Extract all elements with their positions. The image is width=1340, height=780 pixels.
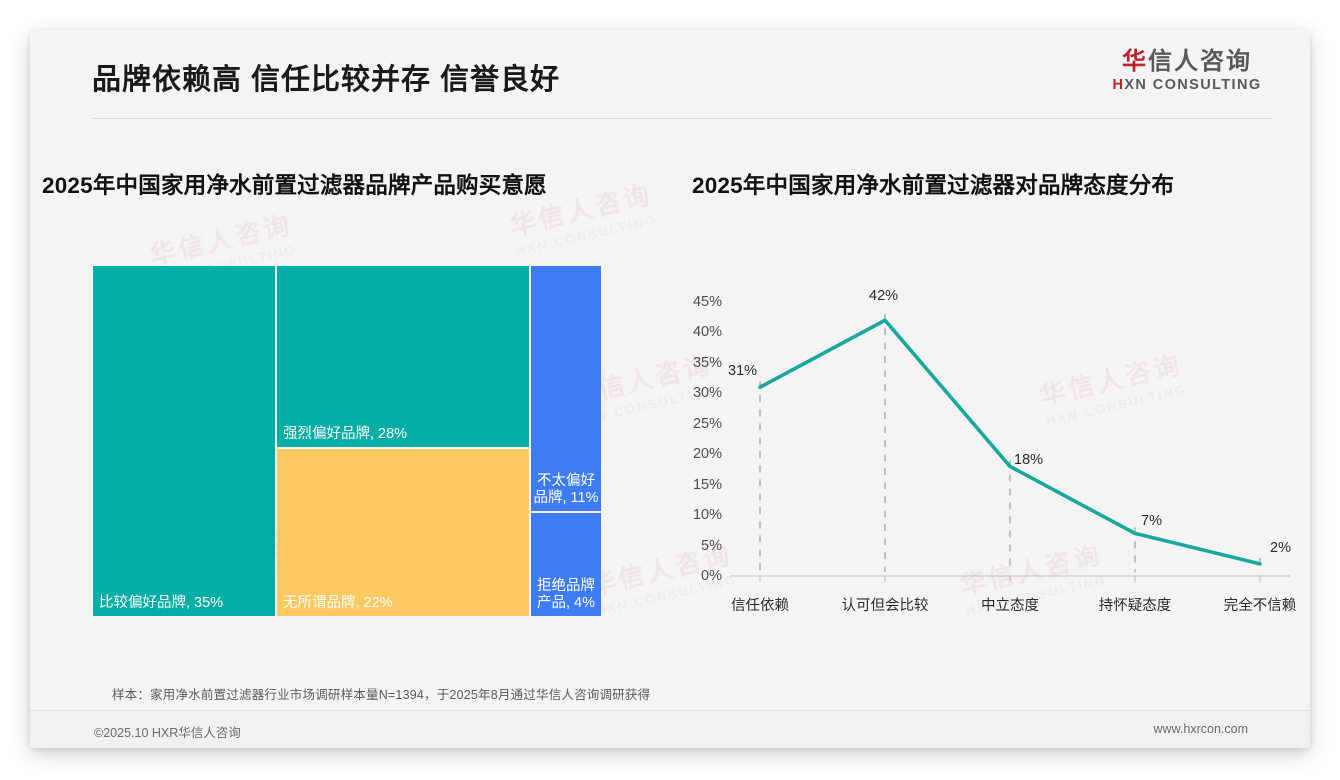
y-axis-tick-label: 35% xyxy=(674,355,722,371)
treemap-tile-label: 不太偏好品牌, 11% xyxy=(531,473,601,507)
y-axis-tick-label: 30% xyxy=(674,385,722,401)
line-chart: 45%40%35%30%25%20%15%10%5%0% 信任依赖认可但会比较中… xyxy=(670,266,1310,626)
y-axis-tick-label: 0% xyxy=(674,568,722,584)
vertical-gridlines xyxy=(760,314,1260,572)
y-axis-tick-label: 10% xyxy=(674,507,722,523)
y-axis-tick-label: 45% xyxy=(674,294,722,310)
watermark-en: HXN CONSULTING xyxy=(514,211,659,258)
treemap-tile[interactable]: 比较偏好品牌, 35% xyxy=(93,266,275,616)
copyright-text: ©2025.10 HXR华信人咨询 xyxy=(94,722,241,741)
logo-chinese-text: 华信人咨询 xyxy=(1102,49,1272,75)
treemap-tile-label: 强烈偏好品牌, 28% xyxy=(283,426,407,443)
y-axis-tick-label: 25% xyxy=(674,416,722,432)
source-footnote: 样本：家用净水前置过滤器行业市场调研样本量N=1394，于2025年8月通过华信… xyxy=(112,684,650,703)
y-axis-tick-label: 15% xyxy=(674,477,722,493)
y-axis-tick-label: 5% xyxy=(674,538,722,554)
left-chart-title: 2025年中国家用净水前置过滤器品牌产品购买意愿 xyxy=(42,168,547,200)
treemap-tile[interactable]: 强烈偏好品牌, 28% xyxy=(277,266,529,447)
x-axis-category-label: 中立态度 xyxy=(981,594,1039,615)
slide-footer: ©2025.10 HXR华信人咨询 www.hxrcon.com xyxy=(30,711,1310,748)
logo-english-text: HXN CONSULTING xyxy=(1102,77,1272,93)
line-chart-svg xyxy=(670,266,1310,626)
data-point-label: 7% xyxy=(1141,513,1162,529)
line-series[interactable] xyxy=(760,320,1260,564)
x-axis-ticks xyxy=(760,576,1260,582)
logo-en-red-char: H xyxy=(1112,77,1124,93)
treemap-chart: 比较偏好品牌, 35% 强烈偏好品牌, 28% 无所谓品牌, 22% 不太偏好品… xyxy=(93,266,638,616)
treemap-tile[interactable]: 拒绝品牌产品, 4% xyxy=(531,513,601,616)
website-text[interactable]: www.hxrcon.com xyxy=(1154,722,1248,736)
y-axis-tick-label: 40% xyxy=(674,324,722,340)
logo-cn-rest: 信人咨询 xyxy=(1148,48,1252,75)
right-chart-title: 2025年中国家用净水前置过滤器对品牌态度分布 xyxy=(692,168,1174,200)
data-point-label: 18% xyxy=(1014,452,1043,468)
x-axis-category-label: 认可但会比较 xyxy=(842,594,929,615)
x-axis-category-label: 持怀疑态度 xyxy=(1099,594,1172,615)
page-title: 品牌依赖高 信任比较并存 信誉良好 xyxy=(92,56,560,98)
treemap-tile-label: 拒绝品牌产品, 4% xyxy=(531,578,601,612)
data-point-label: 2% xyxy=(1270,540,1291,556)
y-axis-tick-label: 20% xyxy=(674,446,722,462)
data-point-label: 42% xyxy=(869,288,898,304)
slide-canvas: 华信人咨询 HXN CONSULTING 华信人咨询 HXN CONSULTIN… xyxy=(30,30,1310,748)
watermark-cn: 华信人咨询 xyxy=(146,204,296,273)
slide-header: 品牌依赖高 信任比较并存 信誉良好 华信人咨询 HXN CONSULTING xyxy=(30,30,1310,120)
treemap-tile-label: 比较偏好品牌, 35% xyxy=(99,595,223,612)
logo-en-rest: XN CONSULTING xyxy=(1124,77,1261,93)
x-axis-category-label: 完全不信赖 xyxy=(1224,594,1297,615)
header-divider xyxy=(92,118,1272,119)
treemap-tile[interactable]: 不太偏好品牌, 11% xyxy=(531,266,601,511)
data-point-label: 31% xyxy=(728,363,757,379)
logo-cn-red-char: 华 xyxy=(1122,48,1148,75)
company-logo: 华信人咨询 HXN CONSULTING xyxy=(1102,49,1272,93)
x-axis-category-label: 信任依赖 xyxy=(731,594,789,615)
treemap-tile-label: 无所谓品牌, 22% xyxy=(283,595,393,612)
treemap-tile[interactable]: 无所谓品牌, 22% xyxy=(277,449,529,616)
